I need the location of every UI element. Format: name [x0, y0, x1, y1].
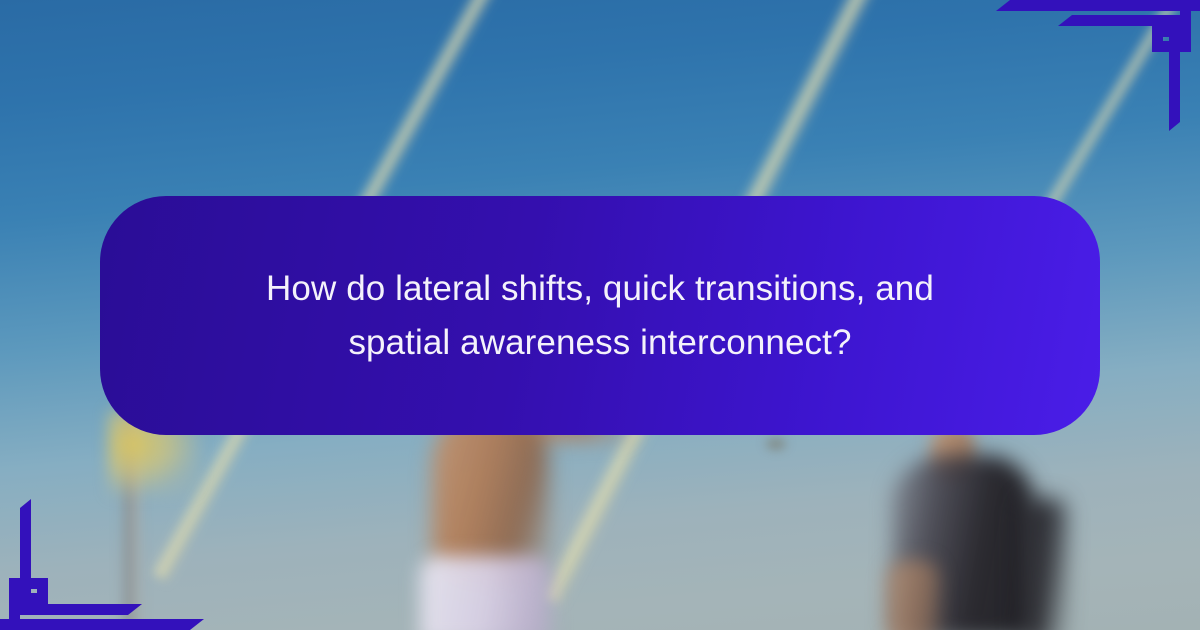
quote-card: How do lateral shifts, quick transitions… — [100, 196, 1100, 435]
bracket-frame-icon — [0, 470, 220, 630]
player-right-leg — [886, 560, 940, 630]
player-right-shadow — [1020, 498, 1066, 630]
corner-ornament-top-right — [980, 0, 1200, 160]
quote-text: How do lateral shifts, quick transitions… — [216, 262, 984, 368]
bracket-frame-icon — [980, 0, 1200, 160]
corner-ornament-bottom-left — [0, 470, 220, 630]
social-quote-card-image: How do lateral shifts, quick transitions… — [0, 0, 1200, 630]
volleyball — [766, 438, 786, 450]
player-left-shorts — [420, 556, 552, 630]
